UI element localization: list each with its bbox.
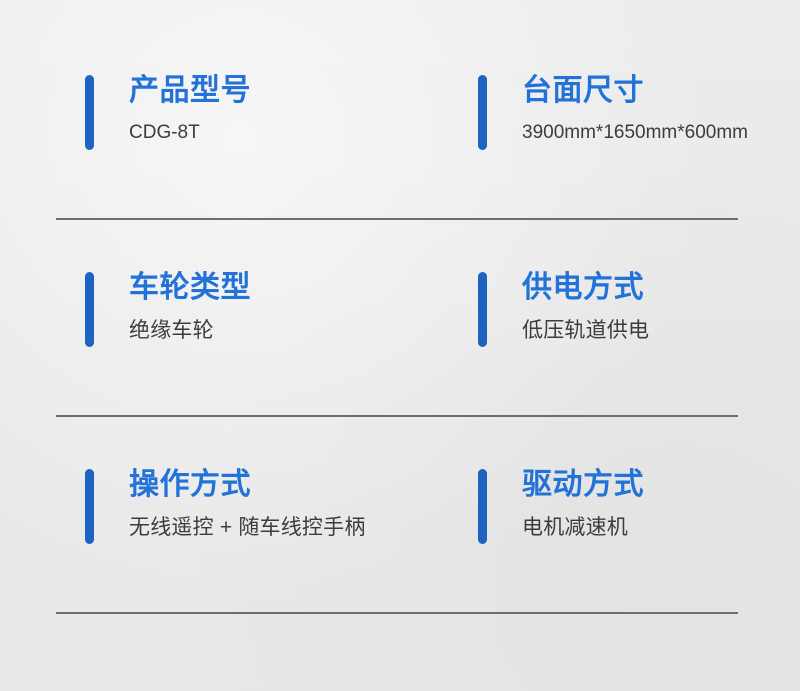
row-divider [56,415,738,417]
spec-value: 电机减速机 [522,515,800,541]
spec-label: 产品型号 [129,73,400,108]
spec-text-group: 台面尺寸 3900mm*1650mm*600mm [522,73,800,145]
spec-label: 供电方式 [522,270,800,305]
accent-bar-icon [478,75,487,150]
spec-row: 操作方式 无线遥控 + 随车线控手柄 驱动方式 电机减速机 [0,417,800,612]
spec-item-operation-mode: 操作方式 无线遥控 + 随车线控手柄 [0,417,400,612]
spec-label: 操作方式 [129,467,400,502]
spec-value: 无线遥控 + 随车线控手柄 [129,515,400,541]
spec-item-drive-mode: 驱动方式 电机减速机 [400,417,800,612]
spec-text-group: 操作方式 无线遥控 + 随车线控手柄 [129,467,400,542]
spec-label: 台面尺寸 [522,73,800,108]
spec-item-product-model: 产品型号 CDG-8T [0,23,400,218]
spec-value: 3900mm*1650mm*600mm [522,121,800,145]
spec-value: CDG-8T [129,121,400,145]
row-divider [56,218,738,220]
spec-value: 低压轨道供电 [522,318,800,344]
spec-label: 车轮类型 [129,270,400,305]
spec-text-group: 供电方式 低压轨道供电 [522,270,800,345]
spec-item-wheel-type: 车轮类型 绝缘车轮 [0,220,400,415]
spec-row: 产品型号 CDG-8T 台面尺寸 3900mm*1650mm*600mm [0,23,800,218]
spec-value: 绝缘车轮 [129,318,400,344]
accent-bar-icon [478,469,487,544]
accent-bar-icon [478,272,487,347]
spec-item-table-size: 台面尺寸 3900mm*1650mm*600mm [400,23,800,218]
spec-label: 驱动方式 [522,467,800,502]
accent-bar-icon [85,272,94,347]
spec-row: 车轮类型 绝缘车轮 供电方式 低压轨道供电 [0,220,800,415]
accent-bar-icon [85,469,94,544]
row-divider [56,612,738,614]
spec-text-group: 驱动方式 电机减速机 [522,467,800,542]
accent-bar-icon [85,75,94,150]
spec-text-group: 产品型号 CDG-8T [129,73,400,145]
specification-sheet: 产品型号 CDG-8T 台面尺寸 3900mm*1650mm*600mm 车轮类… [0,0,800,691]
spec-text-group: 车轮类型 绝缘车轮 [129,270,400,345]
spec-item-power-supply: 供电方式 低压轨道供电 [400,220,800,415]
